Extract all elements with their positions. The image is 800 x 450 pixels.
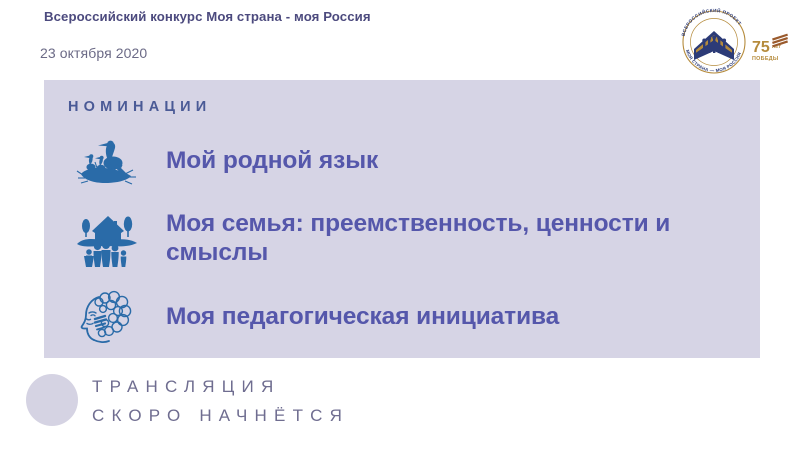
pushkin-profile-icon xyxy=(70,287,144,347)
svg-text:ПОБЕДЫ: ПОБЕДЫ xyxy=(752,56,778,62)
event-date: 23 октября 2020 xyxy=(40,45,147,61)
nominations-panel: НОМИНАЦИИ xyxy=(44,80,760,358)
stork-icon xyxy=(70,131,144,191)
broadcast-indicator-circle xyxy=(26,374,78,426)
nomination-label: Моя семья: преемственность, ценности и с… xyxy=(166,210,760,267)
page-title: Всероссийский конкурс Моя страна - моя Р… xyxy=(44,9,371,24)
nominations-list: Мой родной язык xyxy=(44,126,760,352)
svg-text:ВСЕРОССИЙСКИЙ ПРОЕКТ: ВСЕРОССИЙСКИЙ ПРОЕКТ xyxy=(681,6,743,36)
nomination-item[interactable]: Моя семья: преемственность, ценности и с… xyxy=(44,196,760,282)
nomination-item[interactable]: Мой родной язык xyxy=(44,126,760,196)
project-logo: ВСЕРОССИЙСКИЙ ПРОЕКТ МОЯ СТРАНА — МОЯ РО… xyxy=(672,2,796,74)
nomination-label: Мой родной язык xyxy=(166,147,378,176)
nomination-label: Моя педагогическая инициатива xyxy=(166,303,559,332)
slide-root: Всероссийский конкурс Моя страна - моя Р… xyxy=(0,0,800,450)
broadcast-line-1: ТРАНСЛЯЦИЯ xyxy=(92,372,349,401)
nomination-item[interactable]: Моя педагогическая инициатива xyxy=(44,282,760,352)
svg-text:75: 75 xyxy=(752,39,770,56)
broadcast-line-2: СКОРО НАЧНЁТСЯ xyxy=(92,401,349,430)
nominations-heading: НОМИНАЦИИ xyxy=(68,99,211,115)
broadcast-status: ТРАНСЛЯЦИЯ СКОРО НАЧНЁТСЯ xyxy=(92,372,349,430)
family-house-icon xyxy=(70,209,144,269)
